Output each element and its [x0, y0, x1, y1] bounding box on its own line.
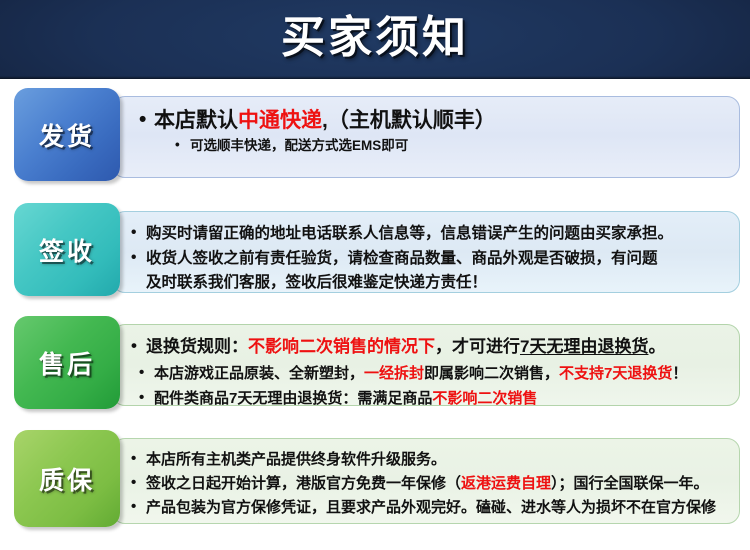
section-panel-shipping: 本店默认中通快递,（主机默认顺丰） 可选顺丰快递，配送方式选EMS即可 — [112, 96, 740, 178]
section-content-receiving: 购买时请留正确的地址电话联系人信息等，信息错误产生的问题由买家承担。 收货人签收… — [113, 212, 739, 293]
text-run: 及时联系我们客服，签收后很难鉴定快递方责任！ — [146, 274, 487, 291]
section-content-shipping: 本店默认中通快递,（主机默认顺丰） 可选顺丰快递，配送方式选EMS即可 — [113, 97, 739, 163]
section-badge-receiving: 签收 — [14, 203, 120, 296]
bullet-item: 退换货规则：不影响二次销售的情况下，才可进行7天无理由退换货。 — [131, 333, 729, 361]
bullet-item: 购买时请留正确的地址电话联系人信息等，信息错误产生的问题由买家承担。 — [131, 221, 729, 246]
sub-bullet-item: 可选顺丰快递，配送方式选EMS即可 — [175, 135, 727, 157]
section-content-after-sales: 退换货规则：不影响二次销售的情况下，才可进行7天无理由退换货。 本店游戏正品原装… — [113, 325, 739, 406]
text-run: 一经拆封 — [364, 365, 424, 382]
section-shipping: 发货 本店默认中通快递,（主机默认顺丰） 可选顺丰快递，配送方式选EMS即可 — [0, 88, 750, 190]
section-panel-warranty: 本店所有主机类产品提供终身软件升级服务。 签收之日起开始计算，港版官方免费一年保… — [112, 438, 740, 524]
text-run: 签收之日起开始计算，港版官方免费一年保修（ — [146, 475, 461, 492]
bullet-continuation: 及时联系我们客服，签收后很难鉴定快递方责任！ — [131, 271, 729, 293]
text-run: 本店游戏正品原装、全新塑封， — [154, 365, 364, 382]
section-panel-receiving: 购买时请留正确的地址电话联系人信息等，信息错误产生的问题由买家承担。 收货人签收… — [112, 211, 740, 293]
text-run: 7天无理由退换货 — [520, 337, 648, 356]
page-title: 买家须知 — [0, 9, 750, 67]
text-run: 可选顺丰快递，配送方式选EMS即可 — [190, 138, 408, 153]
text-run: 不支持7天退换货 — [559, 365, 672, 382]
bullet-item: 配件类商品7天无理由退换货：需满足商品不影响二次销售 — [139, 386, 729, 406]
section-content-warranty: 本店所有主机类产品提供终身软件升级服务。 签收之日起开始计算，港版官方免费一年保… — [113, 439, 739, 524]
text-run: 即属影响二次销售， — [424, 365, 559, 382]
section-warranty: 质保 本店所有主机类产品提供终身软件升级服务。 签收之日起开始计算，港版官方免费… — [0, 430, 750, 538]
page-header: 买家须知 — [0, 0, 750, 79]
bullet-item: 产品包装为官方保修凭证，且要求产品外观完好。磕碰、进水等人为损坏不在官方保修 — [131, 496, 729, 520]
bullet-item: 本店默认中通快递,（主机默认顺丰） — [139, 106, 727, 135]
text-run: 本店默认 — [154, 109, 238, 132]
text-run: ）；国行全国联保一年。 — [551, 475, 709, 492]
text-run: 退换货规则： — [146, 337, 248, 356]
text-run: ！ — [356, 523, 371, 524]
section-badge-shipping: 发货 — [14, 88, 120, 181]
buyer-notice-page: 买家须知 发货 本店默认中通快递,（主机默认顺丰） 可选顺丰快递，配送方式选EM… — [0, 0, 750, 550]
text-run: 中通快递 — [238, 109, 322, 132]
section-panel-after-sales: 退换货规则：不影响二次销售的情况下，才可进行7天无理由退换货。 本店游戏正品原装… — [112, 324, 740, 406]
bullet-item: 本店所有主机类产品提供终身软件升级服务。 — [131, 448, 729, 472]
text-run: 不影响二次销售的情况下 — [248, 337, 435, 356]
bullet-item: 收货人签收之前有责任验货，请检查商品数量、商品外观是否破损，有问题 — [131, 246, 729, 271]
text-run: ,（主机默认顺丰） — [322, 109, 496, 132]
text-run: ，才可进行 — [435, 337, 520, 356]
text-run: 以官方报告单为依据 — [221, 523, 356, 524]
section-after-sales: 售后 退换货规则：不影响二次销售的情况下，才可进行7天无理由退换货。 本店游戏正… — [0, 316, 750, 418]
section-receiving: 签收 购买时请留正确的地址电话联系人信息等，信息错误产生的问题由买家承担。 收货… — [0, 203, 750, 303]
text-run: ！ — [672, 365, 687, 382]
text-run: 购买时请留正确的地址电话联系人信息等，信息错误产生的问题由买家承担。 — [146, 225, 673, 242]
text-run: 。 — [648, 337, 665, 356]
text-run: 范围。一切 — [146, 523, 221, 524]
text-run: 产品包装为官方保修凭证，且要求产品外观完好。磕碰、进水等人为损坏不在官方保修 — [146, 499, 716, 516]
text-run: 收货人签收之前有责任验货，请检查商品数量、商品外观是否破损，有问题 — [146, 250, 658, 267]
section-badge-warranty: 质保 — [14, 430, 120, 527]
text-run: 不影响二次销售 — [432, 390, 537, 406]
section-badge-after-sales: 售后 — [14, 316, 120, 409]
bullet-item: 本店游戏正品原装、全新塑封，一经拆封即属影响二次销售，不支持7天退换货！ — [139, 361, 729, 386]
bullet-continuation: 范围。一切以官方报告单为依据！ — [131, 520, 729, 524]
text-run: 返港运费自理 — [461, 475, 551, 492]
text-run: 本店所有主机类产品提供终身软件升级服务。 — [146, 451, 446, 468]
text-run: 配件类商品7天无理由退换货：需满足商品 — [154, 390, 432, 406]
bullet-item: 签收之日起开始计算，港版官方免费一年保修（返港运费自理）；国行全国联保一年。 — [131, 472, 729, 496]
